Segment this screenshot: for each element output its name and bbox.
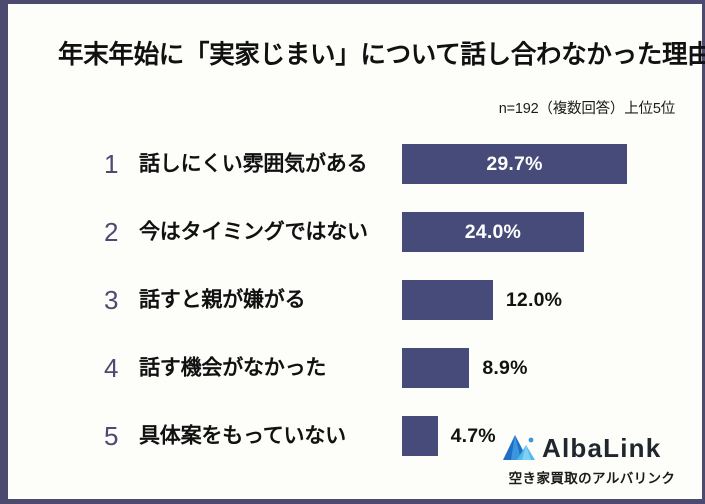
bar-zone: 29.7% — [402, 144, 627, 184]
chart-row: 1 話しにくい雰囲気がある 29.7% — [8, 130, 702, 198]
rank-number: 2 — [104, 219, 118, 245]
page-title: 年末年始に「実家じまい」について話し合わなかった理由 — [58, 40, 678, 72]
value-label: 8.9% — [482, 357, 527, 380]
bar-zone: 4.7% — [402, 416, 496, 456]
rank-number: 5 — [104, 423, 118, 449]
bar-zone: 8.9% — [402, 348, 528, 388]
category-label: 話す機会がなかった — [139, 358, 326, 379]
category-label: 今はタイミングではない — [139, 222, 368, 243]
chart-row: 2 今はタイミングではない 24.0% — [8, 198, 702, 266]
bar-fill — [402, 416, 438, 456]
bar-zone: 24.0% — [402, 212, 584, 252]
logo-wordmark: AlbaLink — [542, 435, 661, 461]
rank-number: 3 — [104, 287, 118, 313]
value-label: 4.7% — [451, 425, 496, 448]
sample-size-note: n=192（複数回答）上位5位 — [499, 97, 675, 118]
bar-fill: 29.7% — [402, 144, 627, 184]
category-label: 話しにくい雰囲気がある — [139, 154, 367, 175]
mountain-logo-icon — [502, 433, 536, 463]
value-label: 24.0% — [465, 221, 521, 244]
bar-fill — [402, 348, 469, 388]
logo-tagline: 空き家買取のアルバリンク — [502, 467, 682, 487]
category-label: 話すと親が嫌がる — [139, 290, 305, 311]
rank-number: 4 — [104, 355, 118, 381]
brand-logo: AlbaLink 空き家買取のアルバリンク — [502, 433, 682, 487]
rank-number: 1 — [104, 151, 118, 177]
bar-fill: 24.0% — [402, 212, 584, 252]
infographic-poster: 年末年始に「実家じまい」について話し合わなかった理由 n=192（複数回答）上位… — [0, 0, 705, 504]
logo-lockup: AlbaLink — [502, 433, 682, 463]
value-label: 12.0% — [506, 289, 562, 312]
bar-zone: 12.0% — [402, 280, 562, 320]
chart-row: 3 話すと親が嫌がる 12.0% — [8, 266, 702, 334]
chart-row: 4 話す機会がなかった 8.9% — [8, 334, 702, 402]
bar-chart: 1 話しにくい雰囲気がある 29.7% 2 今はタイミングではない 24.0% … — [8, 130, 702, 470]
category-label: 具体案をもっていない — [139, 426, 346, 447]
value-label: 29.7% — [486, 153, 542, 176]
bar-fill — [402, 280, 493, 320]
